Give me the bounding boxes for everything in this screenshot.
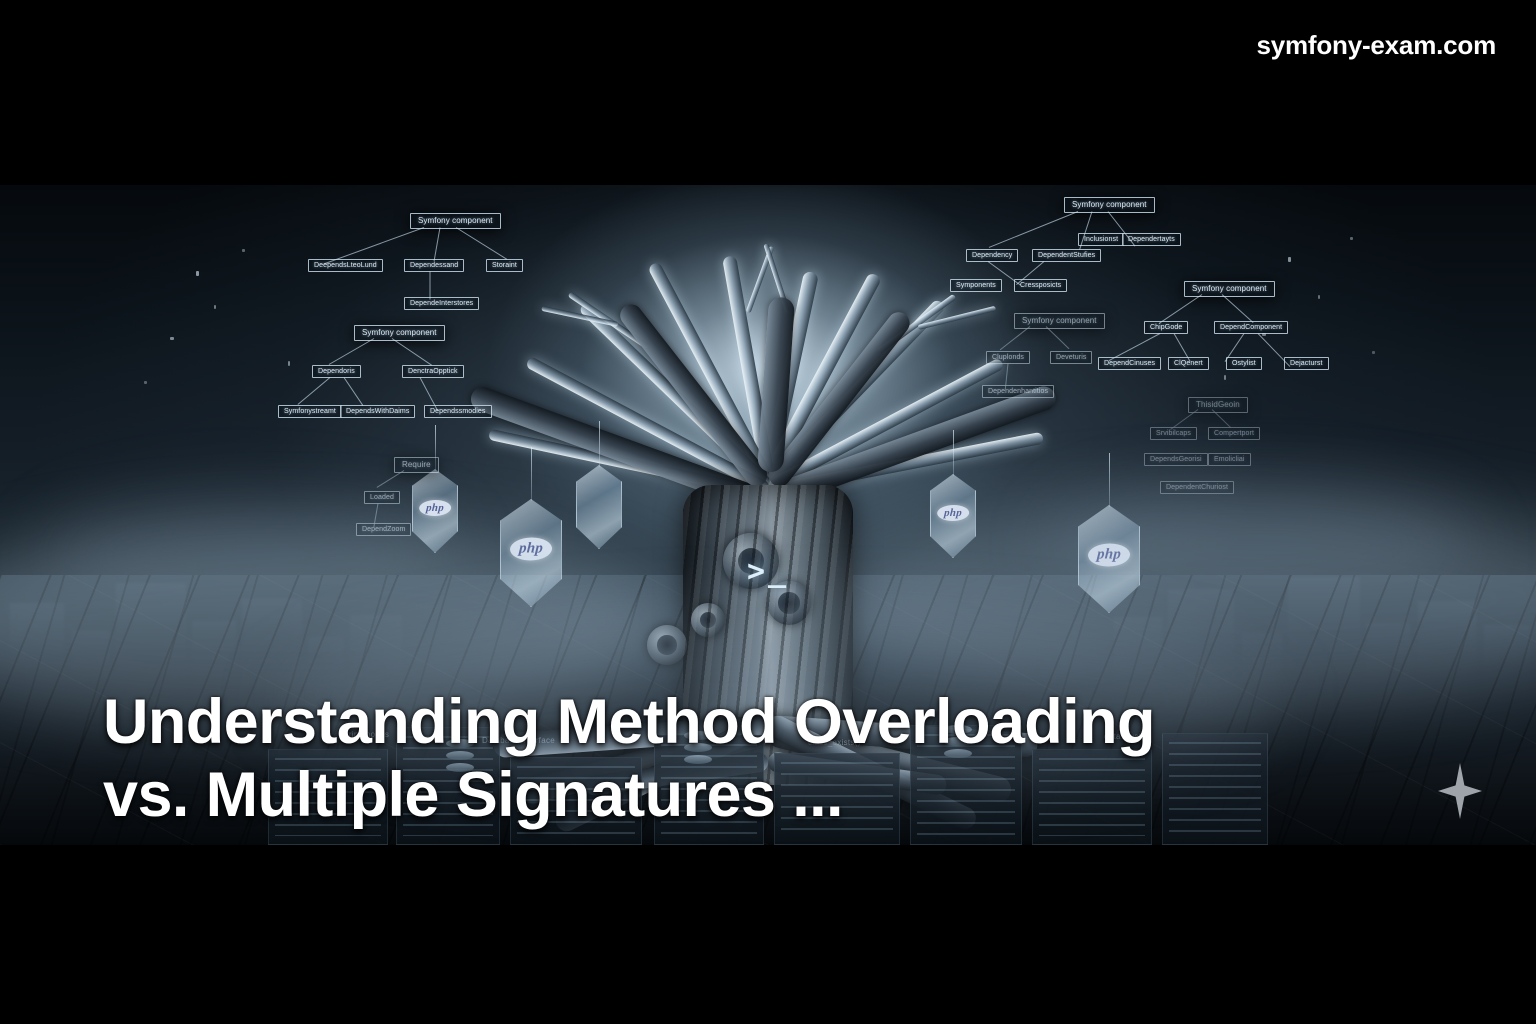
uml-node: Storaint xyxy=(486,259,523,272)
uml-node: DependZoom xyxy=(356,523,411,536)
uml-node: DenctraOpptick xyxy=(402,365,464,378)
uml-node: Symfonystreamt xyxy=(278,405,342,418)
uml-node: DependsWithDaims xyxy=(340,405,415,418)
php-logo: php xyxy=(509,537,553,560)
uml-node: Compertport xyxy=(1208,427,1260,440)
uml-node: ThisidGeoin xyxy=(1188,397,1248,413)
uml-node: DeependsLteoLund xyxy=(308,259,383,272)
uml-cluster: ThisidGeoin Srvibilcaps Compertport Depe… xyxy=(1150,397,1300,487)
uml-node: DependentChuriost xyxy=(1160,481,1234,494)
uml-node: Symponents xyxy=(950,279,1002,292)
crystal-wire xyxy=(953,430,954,476)
uml-node: Loaded xyxy=(364,491,400,504)
uml-node: Symfony component xyxy=(1184,281,1275,297)
uml-node: Dejacturst xyxy=(1284,357,1329,370)
uml-node: Inclusionst xyxy=(1078,233,1124,246)
page-title: Understanding Method Overloading vs. Mul… xyxy=(103,686,1463,832)
uml-node: DependentStufies xyxy=(1032,249,1101,262)
title-line-2: vs. Multiple Signatures ... xyxy=(103,759,1463,832)
crystal-wire xyxy=(599,421,600,467)
uml-node: DependsGeorisi xyxy=(1144,453,1208,466)
uml-cluster: Symfony component Cluplonds Deveturis De… xyxy=(986,313,1176,403)
php-logo: php xyxy=(1087,543,1131,566)
gear-icon xyxy=(691,603,725,637)
uml-node: Dependoris xyxy=(312,365,361,378)
crystal-wire xyxy=(1109,453,1110,507)
uml-node: Dependency xyxy=(966,249,1018,262)
uml-node: Deveturis xyxy=(1050,351,1092,364)
uml-node: DependComponent xyxy=(1214,321,1288,334)
uml-node: Symfony component xyxy=(354,325,445,341)
uml-cluster: Symfony component Dependoris DenctraOppt… xyxy=(292,325,522,435)
title-line-1: Understanding Method Overloading xyxy=(103,687,1155,757)
uml-cluster: Symfony component DeependsLteoLund Depen… xyxy=(300,213,540,323)
hero-image-canvas: >_ php php php php xyxy=(0,0,1536,1024)
uml-node: Srvibilcaps xyxy=(1150,427,1197,440)
uml-cluster: Require Loaded DependZoom xyxy=(356,457,476,537)
php-logo: php xyxy=(937,505,970,521)
crystal-wire xyxy=(531,447,532,501)
uml-node: DependeInterstores xyxy=(404,297,479,310)
uml-node: Ostylist xyxy=(1226,357,1262,370)
uml-node: Cluplonds xyxy=(986,351,1030,364)
uml-node: Cressposicts xyxy=(1014,279,1067,292)
gear-icon xyxy=(647,625,687,665)
uml-node: Dependenhantitios xyxy=(982,385,1054,398)
site-watermark: symfony-exam.com xyxy=(1256,30,1496,61)
uml-node: Emolicliai xyxy=(1208,453,1251,466)
terminal-prompt-icon: >_ xyxy=(747,554,789,589)
